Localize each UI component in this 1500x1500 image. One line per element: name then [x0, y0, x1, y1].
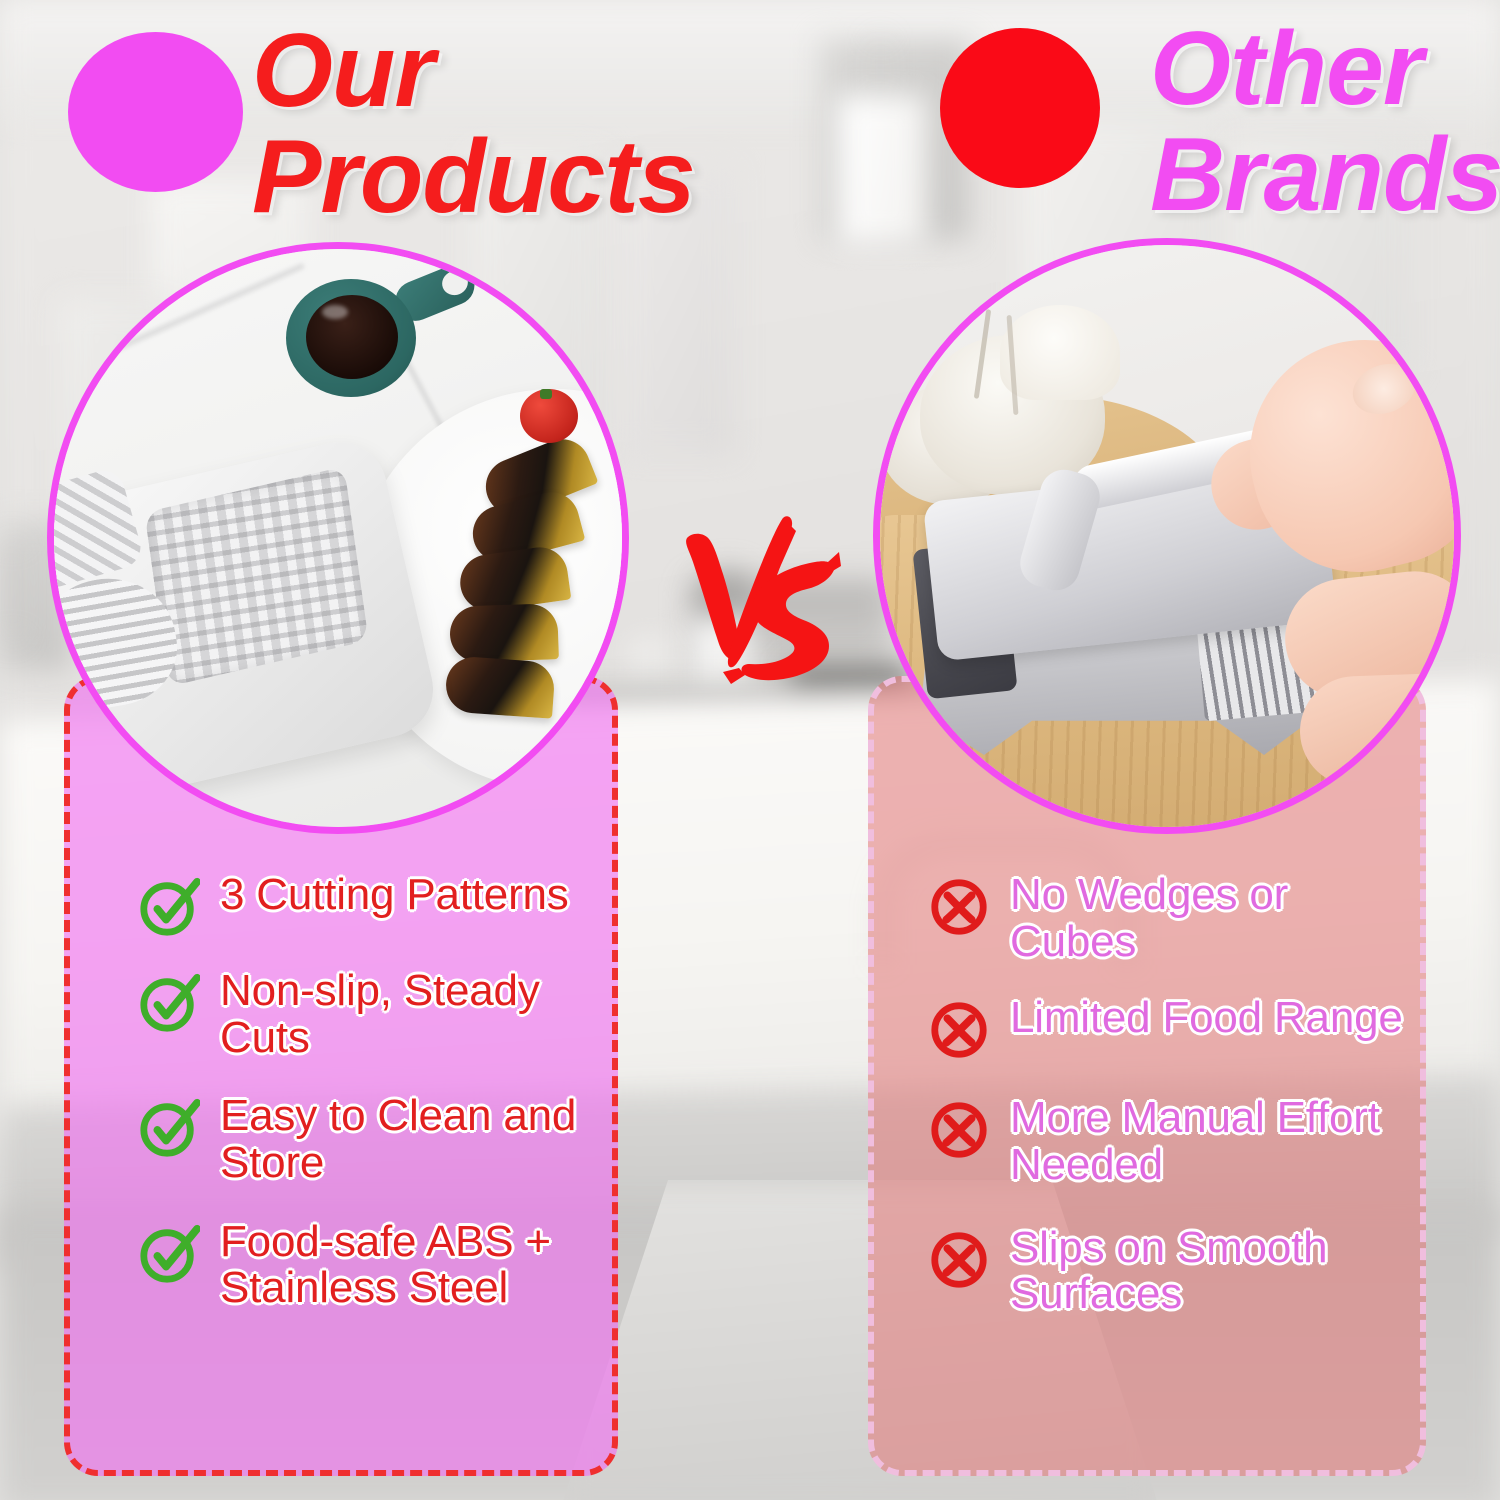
list-item: Easy to Clean and Store [138, 1093, 608, 1186]
our-product-photo-scene [54, 249, 622, 827]
check-circle-icon [138, 972, 200, 1034]
list-item: Limited Food Range [928, 995, 1408, 1061]
dark-sauce [306, 295, 398, 379]
our-products-title: Our Products [252, 18, 695, 230]
list-item-label: Food-safe ABS + Stainless Steel [220, 1219, 608, 1312]
sauce-highlight [322, 305, 348, 319]
our-products-dot-icon [68, 32, 243, 192]
list-item: Food-safe ABS + Stainless Steel [138, 1219, 608, 1312]
list-item: Slips on Smooth Surfaces [928, 1225, 1408, 1318]
list-item-label: Limited Food Range [1010, 995, 1403, 1042]
list-item-label: No Wedges or Cubes [1010, 872, 1408, 965]
cross-circle-icon [928, 1099, 990, 1161]
background-pendant-lamp [838, 95, 926, 245]
century-egg-slice [449, 603, 559, 663]
our-products-feature-list: 3 Cutting Patterns Non-slip, Steady Cuts… [138, 872, 608, 1338]
background-lamp-cord [878, 38, 882, 100]
garlic-bulb [1000, 305, 1120, 400]
list-item-label: Slips on Smooth Surfaces [1010, 1225, 1408, 1318]
tomato-stem [540, 389, 552, 399]
list-item-label: Non-slip, Steady Cuts [220, 968, 608, 1061]
vs-badge [665, 500, 855, 690]
list-item: 3 Cutting Patterns [138, 872, 608, 938]
list-item: Non-slip, Steady Cuts [138, 968, 608, 1061]
list-item: More Manual Effort Needed [928, 1095, 1408, 1188]
list-item-label: 3 Cutting Patterns [220, 872, 569, 919]
other-brand-photo [873, 238, 1461, 834]
cross-circle-icon [928, 1229, 990, 1291]
cross-circle-icon [928, 999, 990, 1061]
comparison-infographic: Our Products Other Brands [0, 0, 1500, 1500]
other-brand-photo-scene [880, 245, 1454, 827]
finger [1298, 672, 1461, 788]
check-circle-icon [138, 1223, 200, 1285]
list-item-label: Easy to Clean and Store [220, 1093, 608, 1186]
other-brands-dot-icon [940, 28, 1100, 188]
century-egg-slice [444, 655, 556, 718]
cross-circle-icon [928, 876, 990, 938]
other-brands-title: Other Brands [1150, 16, 1500, 228]
check-circle-icon [138, 876, 200, 938]
check-circle-icon [138, 1097, 200, 1159]
our-product-photo [47, 242, 629, 834]
list-item-label: More Manual Effort Needed [1010, 1095, 1408, 1188]
other-brands-feature-list: No Wedges or Cubes Limited Food Range Mo… [928, 872, 1408, 1344]
background-faucet [8, 540, 16, 640]
list-item: No Wedges or Cubes [928, 872, 1408, 965]
